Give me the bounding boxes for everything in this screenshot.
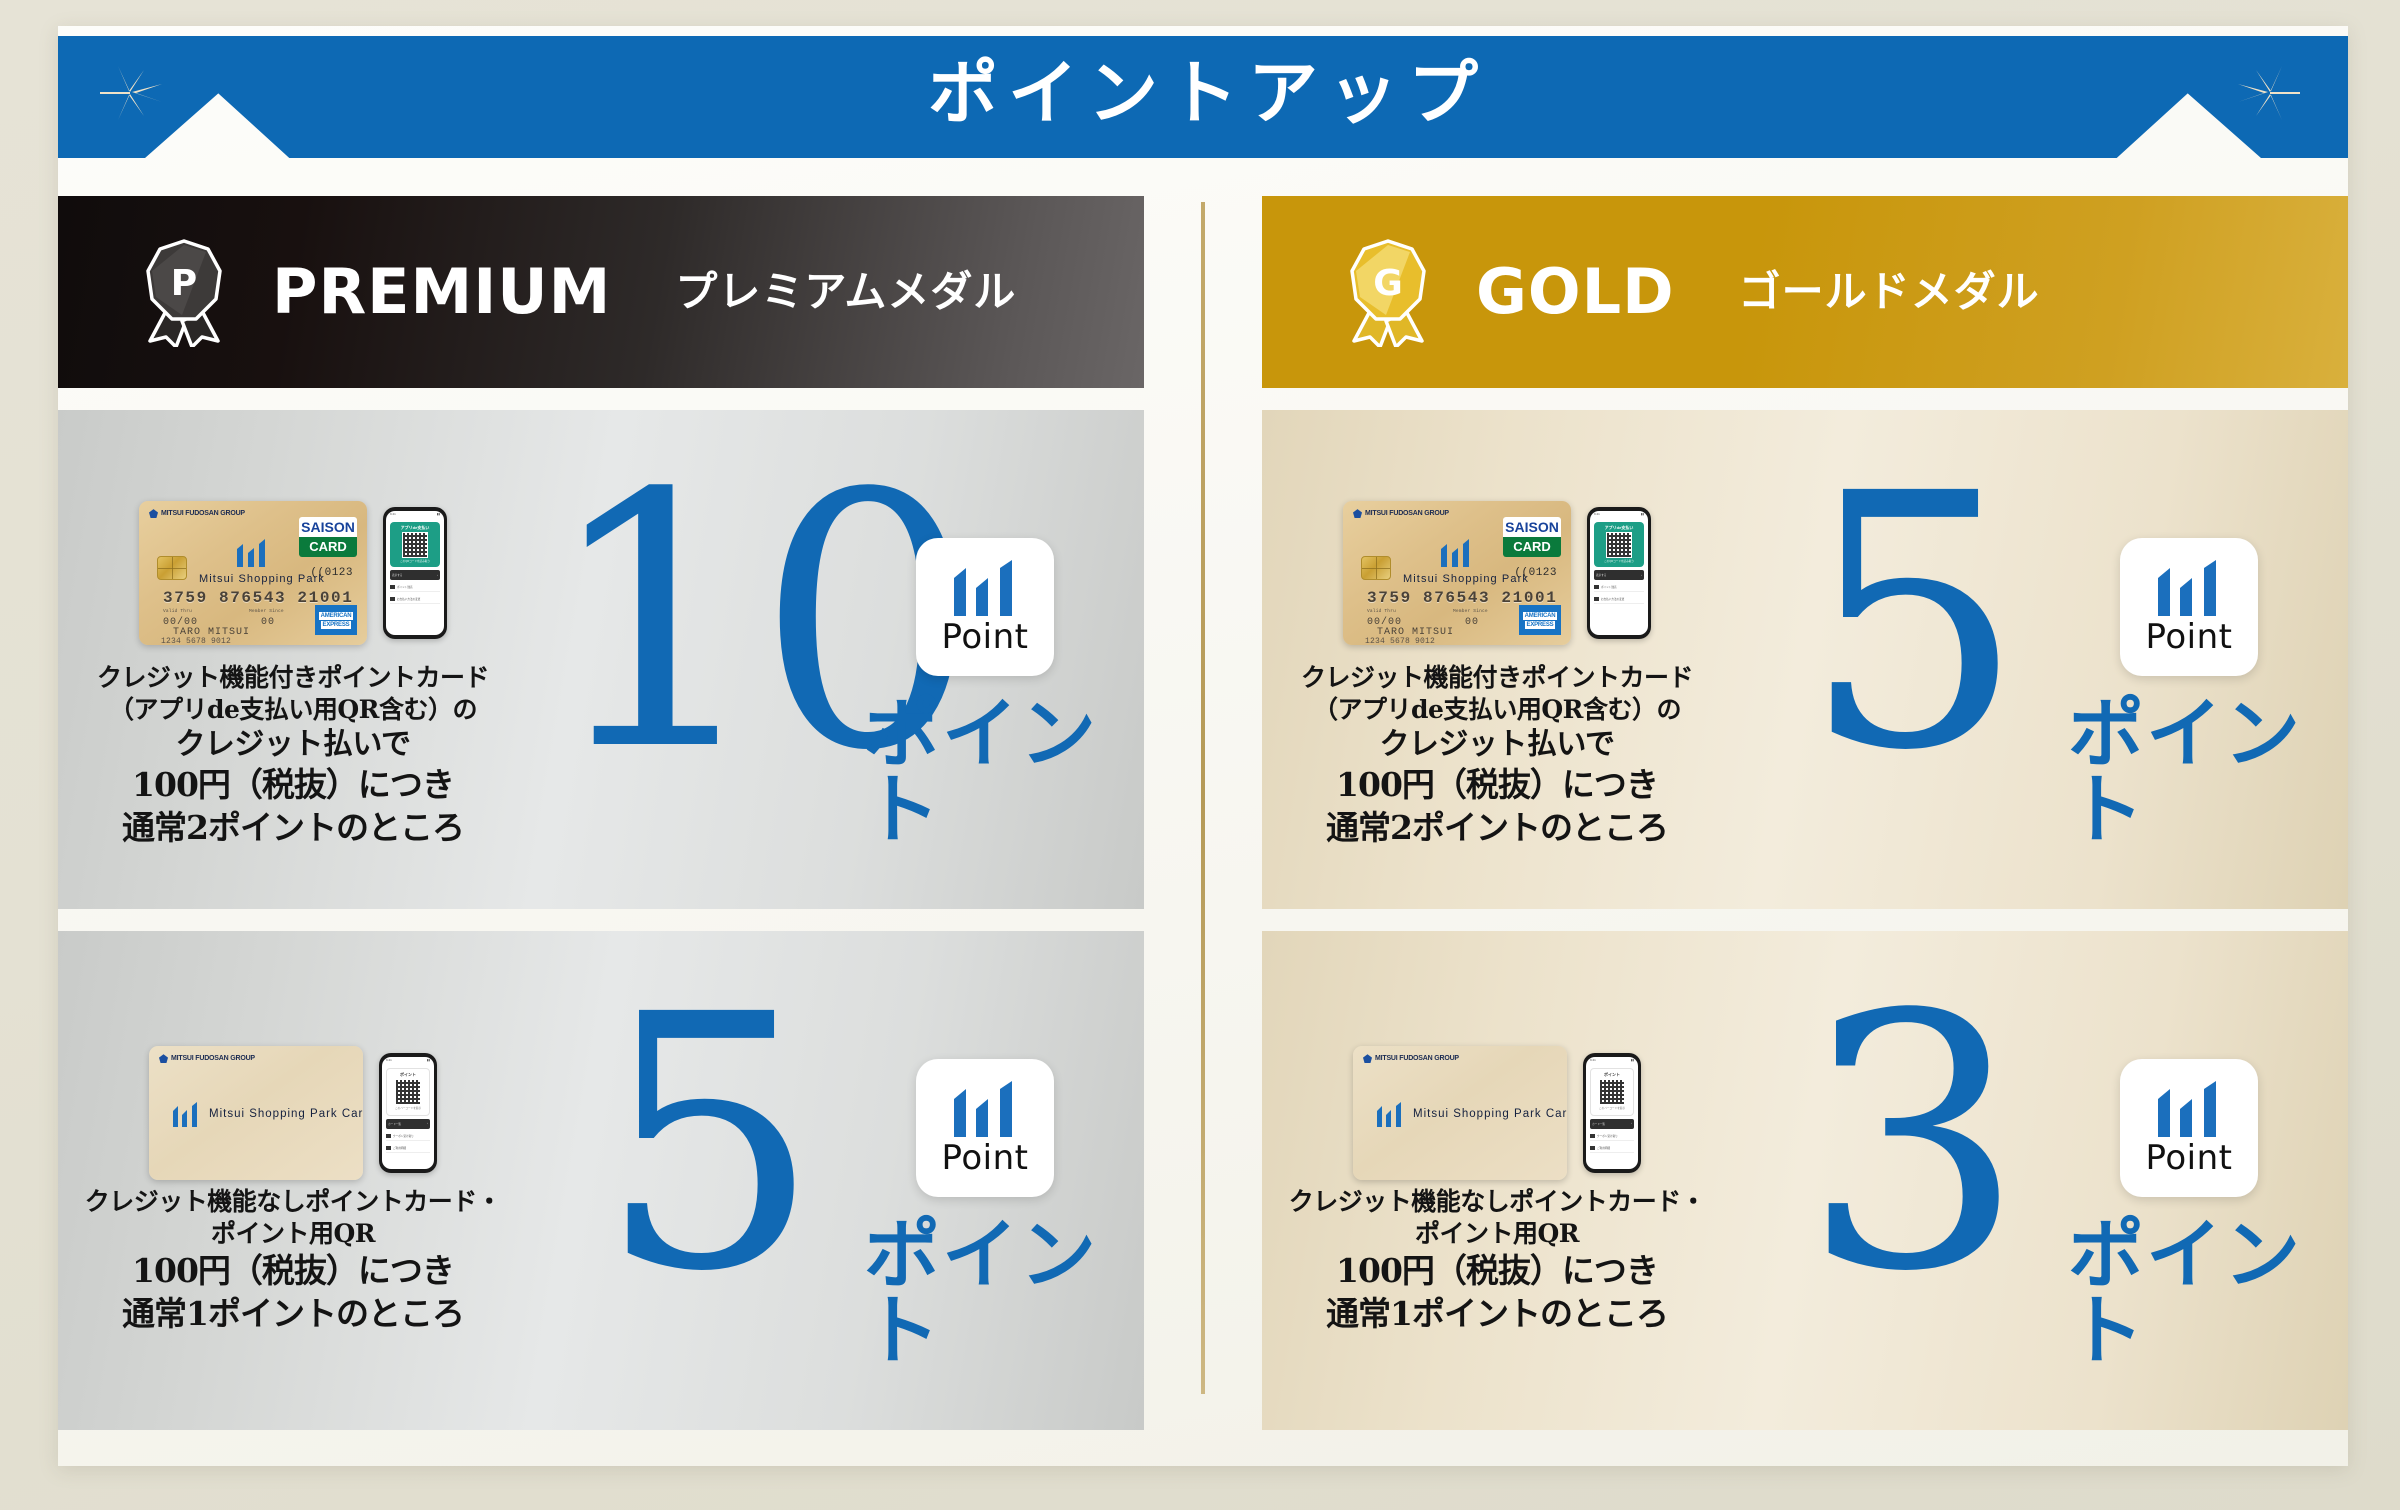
mitsui-m-logo-icon — [171, 1102, 201, 1127]
point-badge-gold-credit: Point — [2120, 538, 2258, 676]
member-since-label: Member Since — [249, 609, 284, 614]
points-unit-gold-credit: ポイント — [2068, 696, 2348, 848]
amex-logo-icon: AMERICAN EXPRESS — [1519, 605, 1561, 635]
member-since-value: 00 — [1465, 617, 1479, 628]
phone-action-bar: 表示する› — [390, 570, 440, 580]
offer-right-gold-nocredit: 3 Point ポイント — [1732, 931, 2348, 1430]
offer-gold-nocredit: MITSUI FUDOSAN GROUP Mitsui Shopping Par… — [1262, 931, 2348, 1430]
offer-premium-credit: MITSUI FUDOSAN GROUP SAISON CARD — [58, 410, 1144, 909]
phone-action-bar: カード一覧› — [386, 1119, 430, 1129]
phone-status-bar: 9:41▮▮ — [382, 1057, 434, 1064]
valid-thru-label: Valid Thru — [163, 609, 192, 614]
points-value-gold-nocredit: 3 — [1802, 969, 2015, 1319]
point-badge-gold-nocredit: Point — [2120, 1059, 2258, 1197]
phone-menu-row-1: ポイント残高 — [1594, 583, 1644, 592]
offer-right-premium-nocredit: 5 Point ポイント — [528, 931, 1144, 1430]
tier-header-gold: G GOLD ゴールドメダル — [1262, 196, 2348, 388]
qr-code-icon — [395, 1079, 421, 1105]
column-divider-wrap — [1144, 196, 1262, 1436]
card-product-name: Mitsui Shopping Park — [1403, 573, 1529, 585]
mitsui-m-logo-icon — [948, 1081, 1022, 1137]
phone-menu-row-2: ご利用明細 — [386, 1144, 430, 1153]
phone-qr-panel: ポイント このバーコードを提示 — [386, 1068, 430, 1115]
credit-card-image: MITSUI FUDOSAN GROUP SAISON CARD — [139, 501, 367, 645]
premium-medal-icon: P — [136, 237, 232, 347]
card-art-credit: MITSUI FUDOSAN GROUP SAISON CARD — [139, 498, 447, 648]
phone-status-bar: 9:41▮▮ — [386, 511, 444, 518]
point-card-image: MITSUI FUDOSAN GROUP Mitsui Shopping Par… — [149, 1046, 363, 1180]
offer-caption-gold-credit: クレジット機能付きポイントカード （アプリde支払い用QR含む）の クレジット払… — [1301, 662, 1693, 849]
amex-logo-icon: AMERICAN EXPRESS — [315, 605, 357, 635]
fudosan-mark-icon — [159, 1054, 168, 1063]
point-card-image: MITSUI FUDOSAN GROUP Mitsui Shopping Par… — [1353, 1046, 1567, 1180]
mitsui-fudosan-group-label: MITSUI FUDOSAN GROUP — [149, 509, 245, 518]
fudosan-mark-icon — [149, 509, 158, 518]
point-badge-label: Point — [2146, 1141, 2233, 1175]
contactless-icon: ((0123 — [1514, 567, 1557, 579]
mitsui-m-logo-icon — [948, 560, 1022, 616]
offer-left-premium-nocredit: MITSUI FUDOSAN GROUP Mitsui Shopping Par… — [58, 1026, 528, 1334]
phone-image-nocredit: 9:41▮▮ ポイント このバーコードを提示 カード一覧› クーポン受け取り ご… — [379, 1053, 437, 1173]
offer-caption-premium-nocredit: クレジット機能なしポイントカード・ ポイント用QR 100円（税抜）につき 通常… — [85, 1186, 502, 1334]
card-product-name: Mitsui Shopping Park Card — [209, 1108, 363, 1120]
offer-left-premium-credit: MITSUI FUDOSAN GROUP SAISON CARD — [58, 470, 528, 849]
qr-code-icon — [1606, 532, 1632, 558]
points-unit-premium-credit: ポイント — [864, 696, 1144, 848]
phone-image-nocredit: 9:41▮▮ ポイント このバーコードを提示 カード一覧› クーポン受け取り ご… — [1583, 1053, 1641, 1173]
card-art-credit: MITSUI FUDOSAN GROUP SAISON CARD — [1343, 498, 1651, 648]
mitsui-m-logo-icon — [235, 539, 269, 567]
point-badge-label: Point — [2146, 620, 2233, 654]
points-unit-gold-nocredit: ポイント — [2068, 1217, 2348, 1369]
points-value-premium-nocredit: 5 — [598, 969, 811, 1319]
vertical-divider — [1201, 202, 1205, 1394]
phone-menu-row-1: クーポン受け取り — [1590, 1132, 1634, 1141]
card-art-nocredit: MITSUI FUDOSAN GROUP Mitsui Shopping Par… — [1353, 1054, 1641, 1172]
tier-column-premium: P PREMIUM プレミアムメダル MITSUI FUDOSAN GROUP — [58, 196, 1144, 1436]
tier-name-jp-premium: プレミアムメダル — [675, 271, 1016, 313]
tier-column-gold: G GOLD ゴールドメダル MITSUI FUDOSAN GROUP SAIS… — [1262, 196, 2348, 1436]
phone-status-bar: 9:41▮▮ — [1586, 1057, 1638, 1064]
card-product-name: Mitsui Shopping Park — [199, 573, 325, 585]
offer-caption-gold-nocredit: クレジット機能なしポイントカード・ ポイント用QR 100円（税抜）につき 通常… — [1289, 1186, 1706, 1334]
svg-text:P: P — [171, 263, 197, 304]
tier-columns: P PREMIUM プレミアムメダル MITSUI FUDOSAN GROUP — [58, 196, 2348, 1436]
card-chip-icon — [157, 556, 187, 580]
phone-image-credit: 9:41▮▮ アプリde支払い このQRコードを読み取り 表示する› ポイント残… — [1587, 507, 1651, 639]
phone-menu-row-2: お支払い方法の変更 — [1594, 595, 1644, 604]
offer-left-gold-credit: MITSUI FUDOSAN GROUP SAISON CARD — [1262, 470, 1732, 849]
mitsui-m-logo-icon — [1375, 1102, 1405, 1127]
fudosan-mark-icon — [1363, 1054, 1372, 1063]
mitsui-m-logo-icon — [2152, 1081, 2226, 1137]
mitsui-fudosan-group-label: MITSUI FUDOSAN GROUP — [1353, 509, 1449, 518]
card-extra-number: 1234 5678 9012 — [1365, 637, 1435, 645]
tier-header-premium: P PREMIUM プレミアムメダル — [58, 196, 1144, 388]
qr-code-icon — [402, 532, 428, 558]
saison-card-logo: SAISON CARD — [299, 517, 357, 557]
header-banner: ポイントアップ — [0, 0, 2400, 160]
tier-name-gold: GOLD — [1476, 261, 1675, 323]
offer-gold-credit: MITSUI FUDOSAN GROUP SAISON CARD — [1262, 410, 2348, 909]
svg-text:G: G — [1373, 263, 1403, 304]
phone-menu-row-2: お支払い方法の変更 — [390, 595, 440, 604]
phone-qr-panel: ポイント このバーコードを提示 — [1590, 1068, 1634, 1115]
offer-right-gold-credit: 5 Point ポイント — [1732, 410, 2348, 909]
point-badge-premium-credit: Point — [916, 538, 1054, 676]
tier-name-premium: PREMIUM — [272, 261, 611, 323]
saison-card-logo: SAISON CARD — [1503, 517, 1561, 557]
offer-left-gold-nocredit: MITSUI FUDOSAN GROUP Mitsui Shopping Par… — [1262, 1026, 1732, 1334]
mitsui-fudosan-group-label: MITSUI FUDOSAN GROUP — [1363, 1054, 1459, 1063]
card-art-nocredit: MITSUI FUDOSAN GROUP Mitsui Shopping Par… — [149, 1054, 437, 1172]
member-since-value: 00 — [261, 617, 275, 628]
mitsui-m-logo-icon — [2152, 560, 2226, 616]
card-product-name: Mitsui Shopping Park Card — [1413, 1108, 1567, 1120]
qr-code-icon — [1599, 1079, 1625, 1105]
valid-thru-label: Valid Thru — [1367, 609, 1396, 614]
fudosan-mark-icon — [1353, 509, 1362, 518]
phone-action-bar: カード一覧› — [1590, 1119, 1634, 1129]
tier-name-jp-gold: ゴールドメダル — [1739, 271, 2040, 313]
header-banner-shape — [58, 36, 2348, 158]
offer-caption-premium-credit: クレジット機能付きポイントカード （アプリde支払い用QR含む）の クレジット払… — [97, 662, 489, 849]
credit-card-image: MITSUI FUDOSAN GROUP SAISON CARD — [1343, 501, 1571, 645]
points-unit-premium-nocredit: ポイント — [864, 1217, 1144, 1369]
card-chip-icon — [1361, 556, 1391, 580]
phone-qr-panel: アプリde支払い このQRコードを読み取り — [1594, 522, 1644, 567]
member-since-label: Member Since — [1453, 609, 1488, 614]
offer-right-premium-credit: 10 Point ポイント — [528, 410, 1144, 909]
phone-action-bar: 表示する› — [1594, 570, 1644, 580]
point-badge-label: Point — [942, 1141, 1029, 1175]
contactless-icon: ((0123 — [310, 567, 353, 579]
phone-menu-row-1: クーポン受け取り — [386, 1132, 430, 1141]
phone-menu-row-2: ご利用明細 — [1590, 1144, 1634, 1153]
phone-qr-panel: アプリde支払い このQRコードを読み取り — [390, 522, 440, 567]
points-value-gold-credit: 5 — [1802, 448, 2015, 798]
offer-premium-nocredit: MITSUI FUDOSAN GROUP Mitsui Shopping Par… — [58, 931, 1144, 1430]
phone-status-bar: 9:41▮▮ — [1590, 511, 1648, 518]
point-badge-label: Point — [942, 620, 1029, 654]
phone-menu-row-1: ポイント残高 — [390, 583, 440, 592]
point-badge-premium-nocredit: Point — [916, 1059, 1054, 1197]
gold-medal-icon: G — [1340, 237, 1436, 347]
phone-image-credit: 9:41▮▮ アプリde支払い このQRコードを読み取り 表示する› ポイント残… — [383, 507, 447, 639]
card-extra-number: 1234 5678 9012 — [161, 637, 231, 645]
mitsui-fudosan-group-label: MITSUI FUDOSAN GROUP — [159, 1054, 255, 1063]
mitsui-m-logo-icon — [1439, 539, 1473, 567]
